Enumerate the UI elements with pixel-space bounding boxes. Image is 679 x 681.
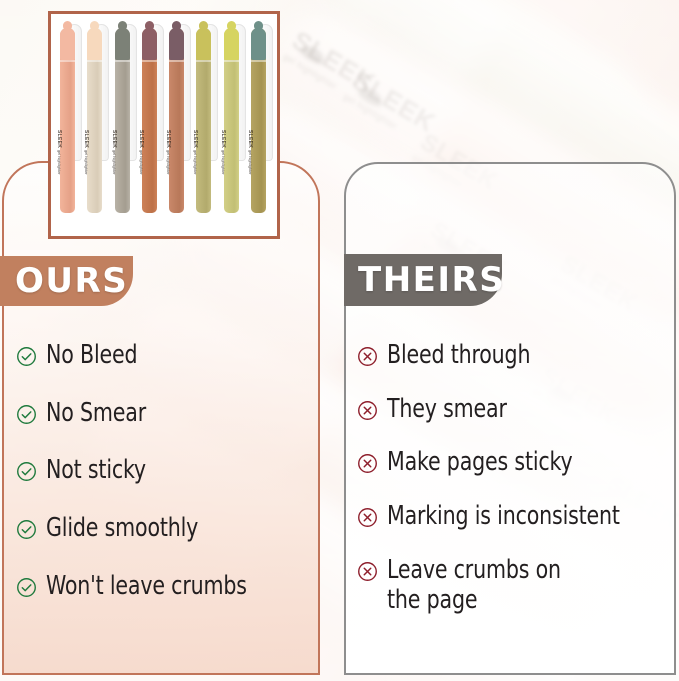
list-item-label: Marking is inconsistent: [387, 501, 620, 532]
theirs-badge: THEIRS: [344, 254, 502, 306]
pen-tip: [142, 28, 157, 60]
salmon-pen: SLEEK gel highlighter: [59, 20, 78, 228]
pen-label: SLEEK gel highlighter: [55, 130, 61, 143]
pen-nub: [254, 21, 263, 30]
pen-label: SLEEK gel highlighter: [137, 130, 143, 143]
list-item: Glide smoothly: [16, 513, 312, 544]
product-pen-row: SLEEK gel highlighterSLEEK gel highlight…: [59, 20, 269, 228]
pen-ring: [224, 60, 239, 62]
list-item: No Bleed: [16, 340, 312, 371]
list-item: Won't leave crumbs: [16, 571, 312, 602]
pen-nub: [90, 21, 99, 30]
pen-ring: [251, 60, 266, 62]
list-item-label: Won't leave crumbs: [46, 571, 247, 602]
pen-tip: [115, 28, 130, 60]
list-item-label: No Bleed: [46, 340, 137, 371]
product-photo-frame: SLEEK gel highlighterSLEEK gel highlight…: [48, 11, 280, 239]
cross-circle-icon: [357, 400, 378, 421]
pen-ring: [169, 60, 184, 62]
list-item-label: Bleed through: [387, 340, 530, 371]
ours-badge: OURS: [0, 256, 133, 306]
yellow-green-pen: SLEEK gel highlighter: [223, 20, 242, 228]
check-circle-icon: [16, 461, 37, 482]
pen-tip: [251, 28, 266, 60]
list-item-label: No Smear: [46, 398, 146, 429]
rose-brown-pen: SLEEK gel highlighter: [141, 20, 160, 228]
pen-label: SLEEK gel highlighter: [246, 130, 252, 143]
pen-label: SLEEK gel highlighter: [192, 130, 198, 143]
gray-green-pen: SLEEK gel highlighter: [114, 20, 133, 228]
list-item-label: Leave crumbs on the page: [387, 555, 561, 616]
pen-ring: [115, 60, 130, 62]
check-circle-icon: [16, 404, 37, 425]
pen-label: SLEEK gel highlighter: [83, 130, 89, 143]
theirs-badge-label: THEIRS: [358, 260, 505, 300]
cross-circle-icon: [357, 346, 378, 367]
list-item-label: Make pages sticky: [387, 447, 573, 478]
pen-ring: [60, 60, 75, 62]
list-item-label: They smear: [387, 394, 507, 425]
cross-circle-icon: [357, 561, 378, 582]
plum-pen: SLEEK gel highlighter: [168, 20, 187, 228]
check-circle-icon: [16, 346, 37, 367]
check-circle-icon: [16, 577, 37, 598]
list-item-label: Not sticky: [46, 455, 146, 486]
list-item: Leave crumbs on the page: [357, 555, 667, 616]
check-circle-icon: [16, 519, 37, 540]
olive-pen: SLEEK gel highlighter: [195, 20, 214, 228]
pen-nub: [145, 21, 154, 30]
pen-nub: [63, 21, 72, 30]
cream-pen: SLEEK gel highlighter: [86, 20, 105, 228]
list-item: They smear: [357, 394, 667, 425]
pen-ring: [142, 60, 157, 62]
pen-nub: [172, 21, 181, 30]
list-item: Make pages sticky: [357, 447, 667, 478]
pen-label: SLEEK gel highlighter: [110, 130, 116, 143]
ours-badge-label: OURS: [15, 261, 128, 301]
list-item: Bleed through: [357, 340, 667, 371]
pen-tip: [87, 28, 102, 60]
pen-tip: [196, 28, 211, 60]
cross-circle-icon: [357, 453, 378, 474]
list-item: Not sticky: [16, 455, 312, 486]
pen-tip: [60, 28, 75, 60]
pen-ring: [87, 60, 102, 62]
pen-nub: [227, 21, 236, 30]
teal-pen: SLEEK gel highlighter: [250, 20, 269, 228]
pen-ring: [196, 60, 211, 62]
list-item-label: Glide smoothly: [46, 513, 198, 544]
list-item: No Smear: [16, 398, 312, 429]
pen-label: SLEEK gel highlighter: [219, 130, 225, 143]
theirs-feature-list: Bleed throughThey smearMake pages sticky…: [357, 340, 667, 639]
pen-tip: [169, 28, 184, 60]
pen-label: SLEEK gel highlighter: [164, 130, 170, 143]
list-item: Marking is inconsistent: [357, 501, 667, 532]
pen-nub: [199, 21, 208, 30]
ours-feature-list: No BleedNo SmearNot stickyGlide smoothly…: [16, 340, 312, 628]
pen-nub: [118, 21, 127, 30]
cross-circle-icon: [357, 507, 378, 528]
pen-tip: [224, 28, 239, 60]
